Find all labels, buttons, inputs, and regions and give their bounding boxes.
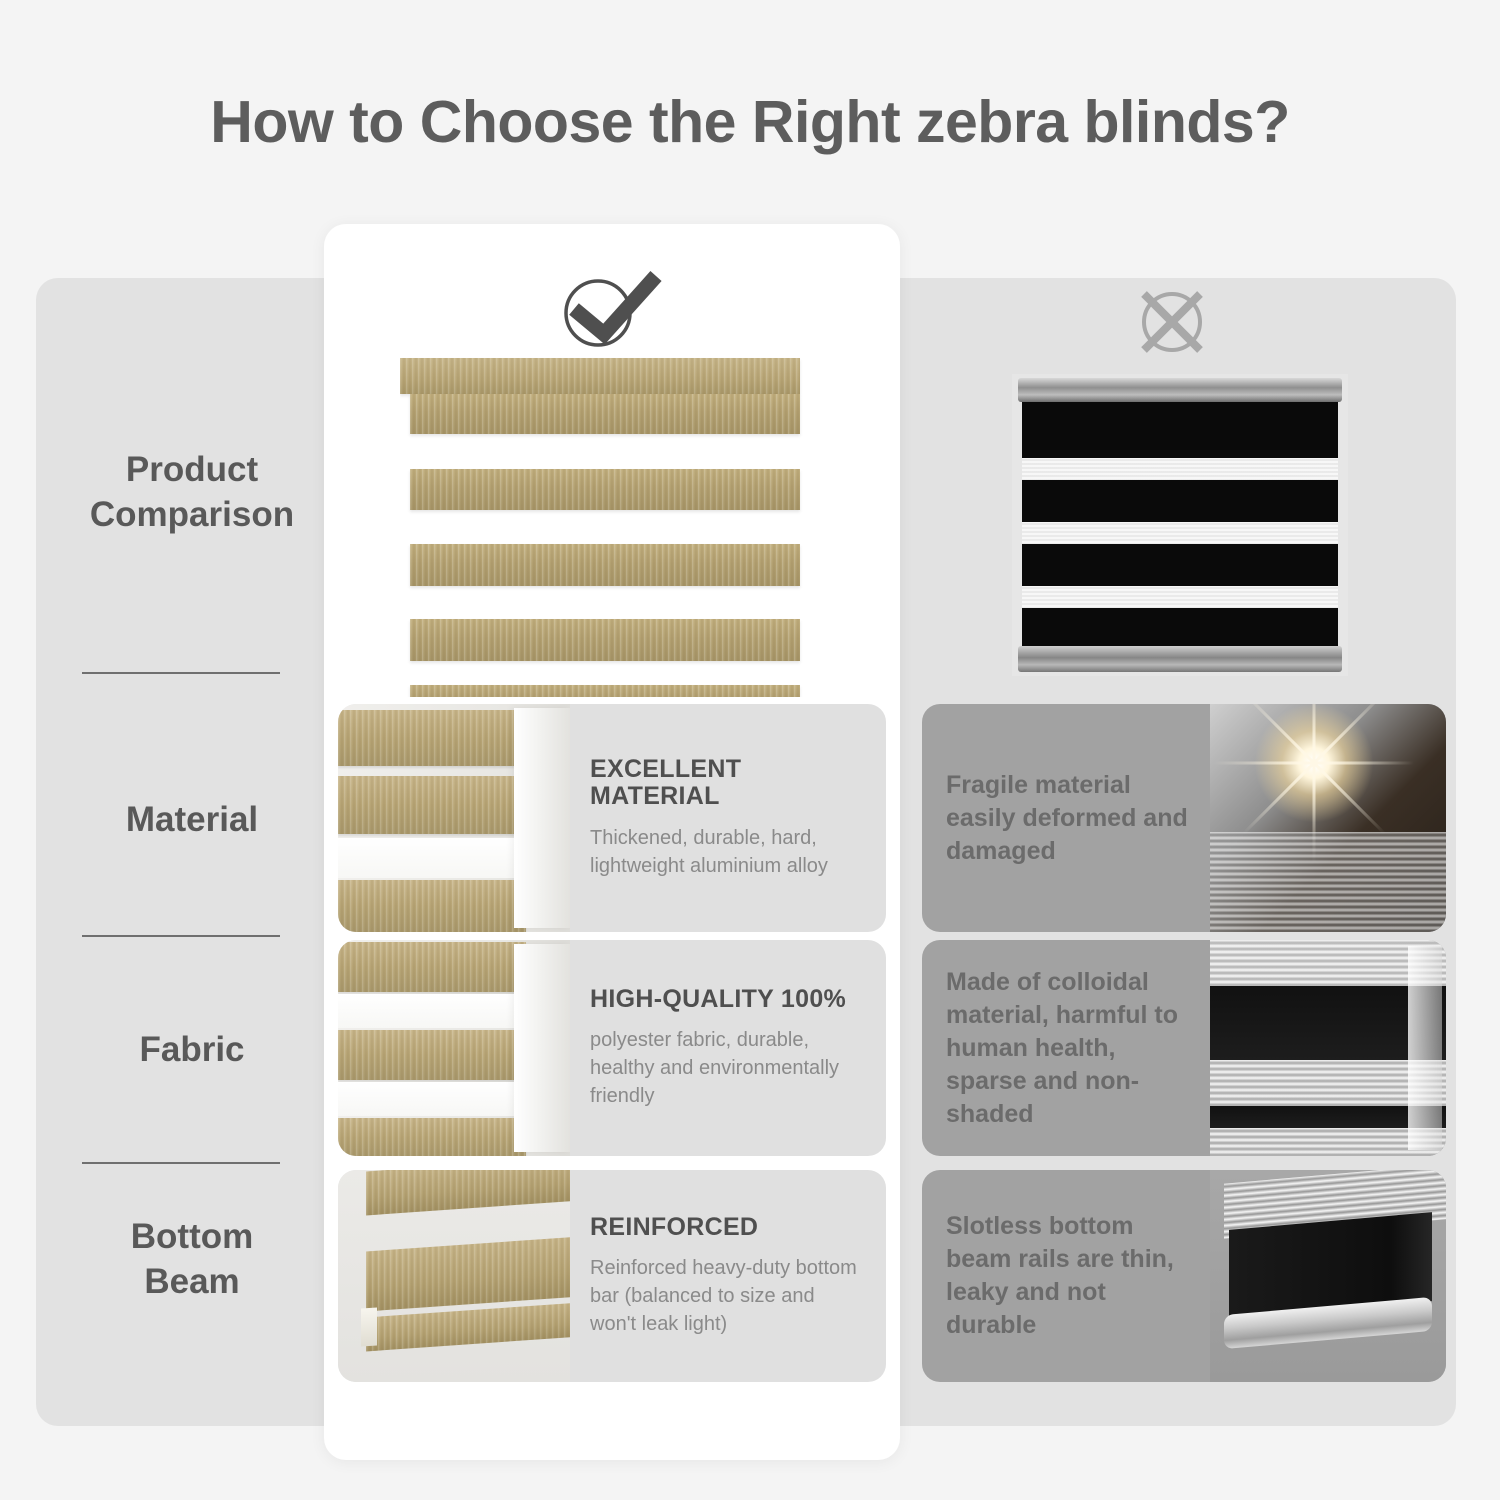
hero-image-good-product bbox=[400, 352, 806, 697]
blind-slat bbox=[410, 619, 800, 661]
feature-body: Fragile material easily deformed and dam… bbox=[946, 769, 1198, 868]
feature-body: Slotless bottom beam rails are thin, lea… bbox=[946, 1210, 1198, 1342]
row-divider-3 bbox=[82, 1162, 280, 1164]
row-label-product-comparison: Product Comparison bbox=[60, 448, 324, 538]
feature-card-good-fabric: HIGH-QUALITY 100% polyester fabric, dura… bbox=[338, 940, 886, 1156]
blind-sheer-band bbox=[1022, 586, 1338, 608]
blind-sheer-band bbox=[1022, 522, 1338, 544]
row-label-line1: Bottom bbox=[60, 1215, 324, 1260]
feature-text-good-material: EXCELLENT MATERIAL Thickened, durable, h… bbox=[590, 704, 870, 932]
row-label-bottom-beam: Bottom Beam bbox=[60, 1215, 324, 1305]
row-label-material: Material bbox=[60, 798, 324, 843]
feature-body: Thickened, durable, hard, lightweight al… bbox=[590, 825, 862, 880]
feature-body: Reinforced heavy-duty bottom bar (balanc… bbox=[590, 1255, 862, 1338]
blind-slat bbox=[410, 469, 800, 510]
row-label-line2: Comparison bbox=[60, 493, 324, 538]
blind-sheer-band bbox=[1022, 458, 1338, 480]
tan-blind-fabric-photo bbox=[338, 940, 570, 1156]
tan-blind-bottom-rail-photo bbox=[338, 1170, 570, 1382]
tan-blind-window-frame-photo bbox=[338, 704, 570, 932]
blind-slat bbox=[410, 544, 800, 586]
row-label-column: Product Comparison Material Fabric Botto… bbox=[60, 300, 324, 1410]
feature-card-bad-material: Fragile material easily deformed and dam… bbox=[922, 704, 1446, 932]
blind-slat bbox=[410, 394, 800, 434]
feature-text-bad-bottom-beam: Slotless bottom beam rails are thin, lea… bbox=[946, 1170, 1198, 1382]
feature-card-bad-fabric: Made of colloidal material, harmful to h… bbox=[922, 940, 1446, 1156]
blind-headrail bbox=[400, 358, 800, 394]
row-label-line2: Beam bbox=[60, 1260, 324, 1305]
feature-body: Made of colloidal material, harmful to h… bbox=[946, 966, 1198, 1131]
row-divider-2 bbox=[82, 935, 280, 937]
feature-card-bad-bottom-beam: Slotless bottom beam rails are thin, lea… bbox=[922, 1170, 1446, 1382]
sparse-fabric-photo bbox=[1210, 940, 1446, 1156]
feature-text-good-bottom-beam: REINFORCED Reinforced heavy-duty bottom … bbox=[590, 1170, 870, 1382]
feature-heading: EXCELLENT MATERIAL bbox=[590, 756, 862, 811]
blind-headrail bbox=[1018, 378, 1342, 402]
blind-bottom-bar bbox=[410, 685, 800, 697]
row-label-line1: Product bbox=[60, 448, 324, 493]
feature-text-bad-material: Fragile material easily deformed and dam… bbox=[946, 704, 1198, 932]
comparison-infographic: How to Choose the Right zebra blinds? Pr… bbox=[0, 0, 1500, 1500]
blind-bottom-bar bbox=[1018, 646, 1342, 672]
row-label-fabric: Fabric bbox=[60, 1028, 324, 1073]
thin-bottom-rail-photo bbox=[1210, 1170, 1446, 1382]
feature-body: polyester fabric, durable, healthy and e… bbox=[590, 1027, 862, 1110]
check-circle-icon bbox=[548, 268, 666, 350]
feature-text-good-fabric: HIGH-QUALITY 100% polyester fabric, dura… bbox=[590, 940, 870, 1156]
row-divider-1 bbox=[82, 672, 280, 674]
feature-card-good-material: EXCELLENT MATERIAL Thickened, durable, h… bbox=[338, 704, 886, 932]
feature-heading: HIGH-QUALITY 100% bbox=[590, 986, 862, 1014]
hero-image-bad-product bbox=[1012, 374, 1348, 676]
page-title: How to Choose the Right zebra blinds? bbox=[0, 88, 1500, 156]
cross-circle-icon bbox=[1128, 284, 1216, 356]
glare-window-photo bbox=[1210, 704, 1446, 932]
feature-card-good-bottom-beam: REINFORCED Reinforced heavy-duty bottom … bbox=[338, 1170, 886, 1382]
feature-text-bad-fabric: Made of colloidal material, harmful to h… bbox=[946, 940, 1198, 1156]
feature-heading: REINFORCED bbox=[590, 1214, 862, 1242]
blind-body bbox=[1022, 400, 1338, 648]
